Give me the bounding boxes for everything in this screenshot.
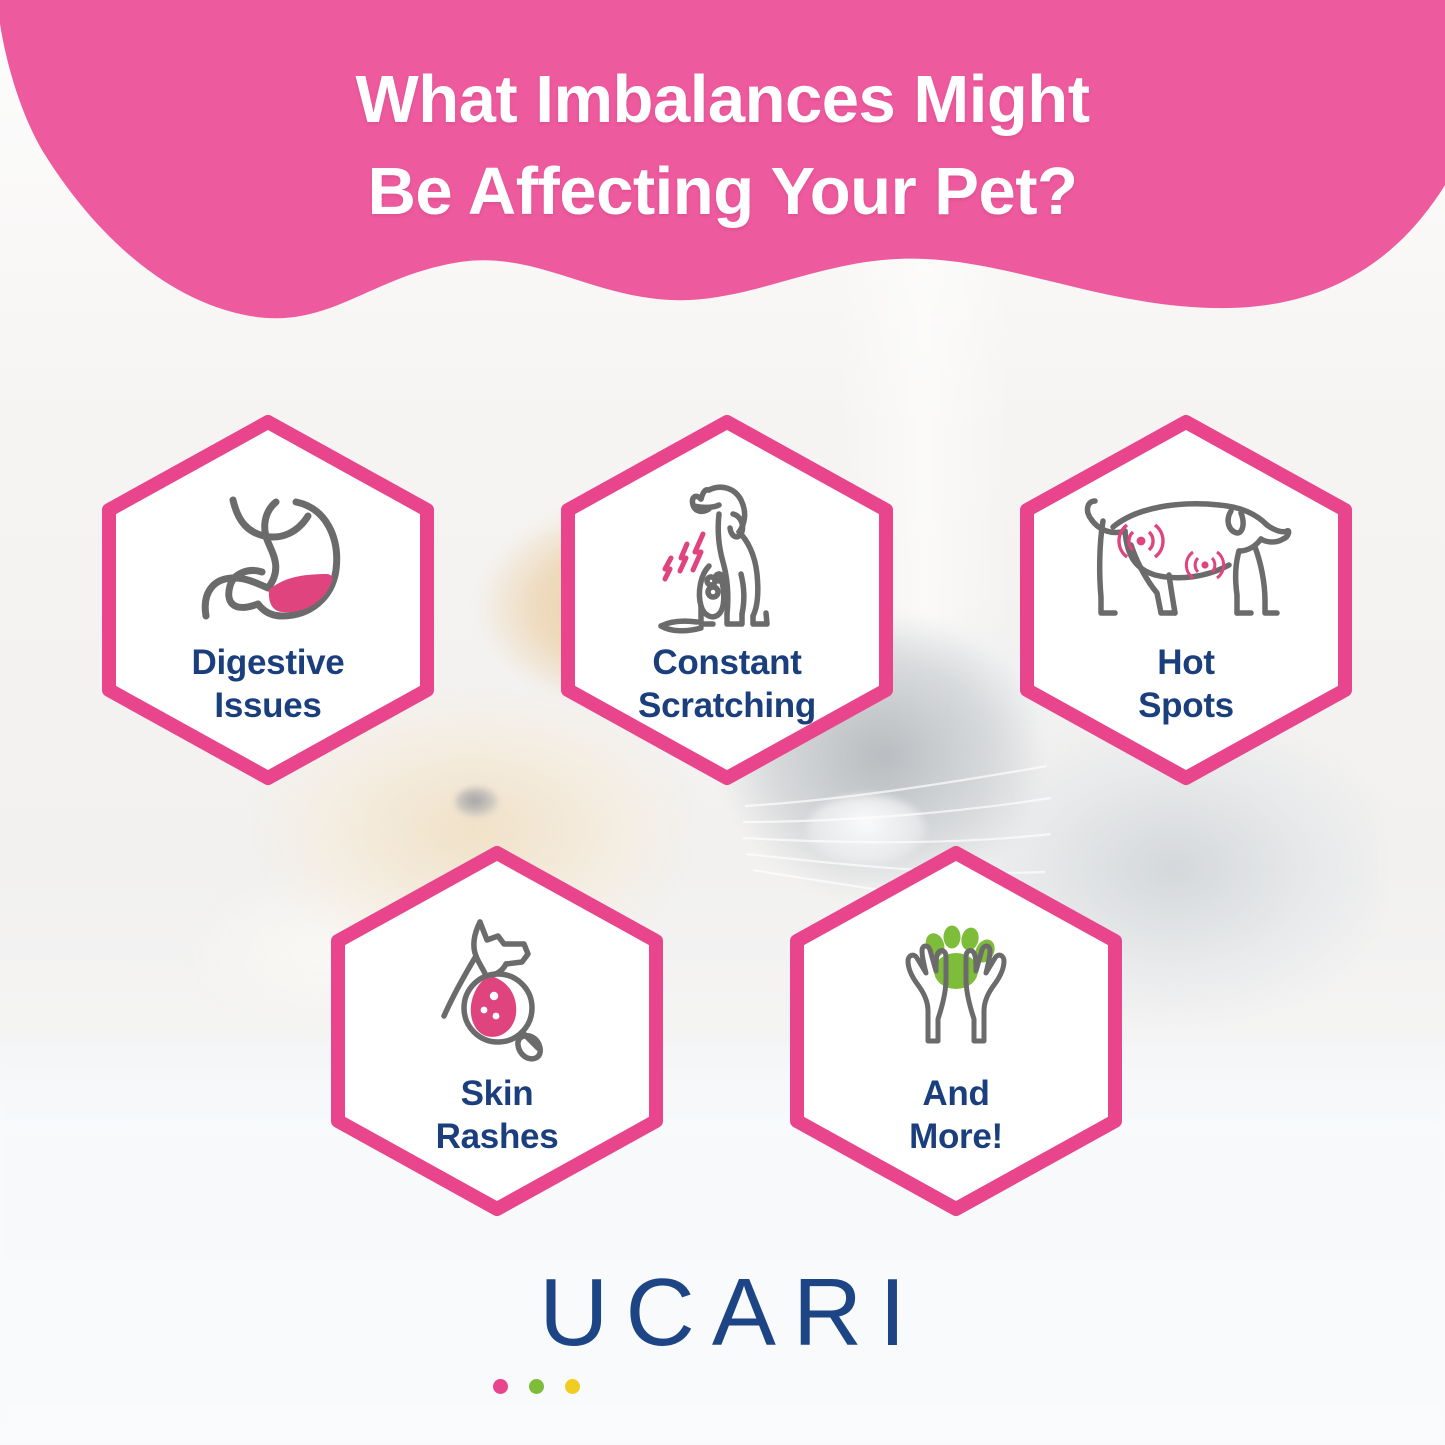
dot-pink [493, 1379, 508, 1394]
hexagon-shape [786, 845, 1126, 1217]
badge-hot-spots[interactable]: Hot Spots [1016, 414, 1356, 786]
page-title-line-2: Be Affecting Your Pet? [0, 146, 1445, 238]
logo-wordmark: UCARI [522, 1265, 923, 1361]
logo-dots [0, 1379, 1445, 1394]
dot-yellow [565, 1379, 580, 1394]
hexagon-shape [1016, 414, 1356, 786]
page-title: What Imbalances Might Be Affecting Your … [0, 54, 1445, 239]
page-title-line-1: What Imbalances Might [0, 54, 1445, 146]
hexagon-shape [327, 845, 667, 1217]
background-dog-eye [455, 787, 499, 817]
hexagon-shape [98, 414, 438, 786]
ucari-logo: UCARI [0, 1265, 1445, 1394]
dot-green [529, 1379, 544, 1394]
badge-and-more[interactable]: And More! [786, 845, 1126, 1217]
badge-constant-scratching[interactable]: Constant Scratching [557, 414, 897, 786]
hexagon-shape [557, 414, 897, 786]
badge-skin-rashes[interactable]: Skin Rashes [327, 845, 667, 1217]
badge-digestive-issues[interactable]: Digestive Issues [98, 414, 438, 786]
promo-graphic-root: What Imbalances Might Be Affecting Your … [0, 0, 1445, 1445]
